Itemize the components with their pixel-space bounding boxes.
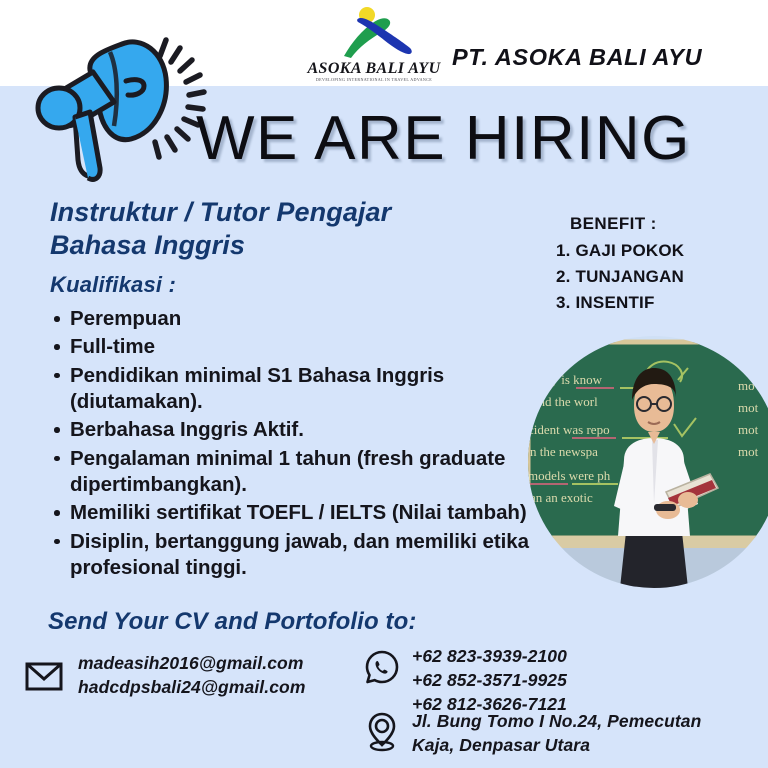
svg-text:cident was repo: cident was repo bbox=[528, 422, 610, 437]
phone-number[interactable]: +62 823-3939-2100 bbox=[412, 645, 567, 669]
svg-text:und the worl: und the worl bbox=[532, 394, 598, 409]
job-title-line2: Bahasa Inggris bbox=[50, 229, 520, 262]
contact-phone-block[interactable]: +62 823-3939-2100 +62 852-3571-9925 +62 … bbox=[364, 645, 567, 716]
list-item: Pengalaman minimal 1 tahun (fresh gradua… bbox=[70, 446, 540, 499]
teacher-photo: story is know und the worl cident was re… bbox=[528, 336, 768, 588]
address-line-2: Kaja, Denpasar Utara bbox=[412, 734, 701, 758]
svg-text:an an exotic: an an exotic bbox=[530, 490, 593, 505]
benefit-item: 1. GAJI POKOK bbox=[556, 238, 766, 264]
email-address[interactable]: hadcdpsbali24@gmail.com bbox=[78, 676, 305, 700]
company-logo: ASOKA BALI AYU DEVELOPING INTERNATIONAL … bbox=[306, 4, 442, 86]
list-item: Disiplin, bertanggung jawab, dan memilik… bbox=[70, 529, 540, 582]
phone-number[interactable]: +62 852-3571-9925 bbox=[412, 669, 567, 693]
address-line-1: Jl. Bung Tomo I No.24, Pemecutan bbox=[412, 710, 701, 734]
svg-text:mot: mot bbox=[738, 400, 759, 415]
phone-list: +62 823-3939-2100 +62 852-3571-9925 +62 … bbox=[412, 645, 567, 716]
svg-text:story is know: story is know bbox=[532, 372, 603, 387]
list-item: Pendidikan minimal S1 Bahasa Inggris (di… bbox=[70, 363, 540, 416]
qualifications-list: Perempuan Full-time Pendidikan minimal S… bbox=[48, 306, 540, 583]
list-item: Memiliki sertifikat TOEFL / IELTS (Nilai… bbox=[70, 500, 540, 526]
envelope-icon bbox=[24, 659, 64, 693]
job-title: Instruktur / Tutor Pengajar Bahasa Inggr… bbox=[50, 196, 520, 262]
svg-text:mot: mot bbox=[738, 422, 759, 437]
svg-text:mo: mo bbox=[738, 378, 755, 393]
hiring-poster: ASOKA BALI AYU DEVELOPING INTERNATIONAL … bbox=[0, 0, 768, 768]
map-pin-icon bbox=[364, 711, 400, 753]
benefit-item: 3. INSENTIF bbox=[556, 290, 766, 316]
email-address[interactable]: madeasih2016@gmail.com bbox=[78, 652, 305, 676]
qualifications-heading: Kualifikasi : bbox=[50, 272, 176, 298]
email-list: madeasih2016@gmail.com hadcdpsbali24@gma… bbox=[78, 652, 305, 700]
asoka-figure-logo-icon bbox=[334, 6, 414, 61]
logo-tagline: DEVELOPING INTERNATIONAL IN TRAVEL ADVAN… bbox=[306, 77, 442, 82]
job-title-line1: Instruktur / Tutor Pengajar bbox=[50, 196, 520, 229]
page-title: WE ARE HIRING bbox=[196, 103, 691, 174]
whatsapp-phone-icon bbox=[364, 649, 400, 685]
benefit-title: BENEFIT : bbox=[570, 214, 766, 234]
svg-text:mot: mot bbox=[738, 444, 759, 459]
list-item: Perempuan bbox=[70, 306, 540, 332]
svg-text:models were ph: models were ph bbox=[528, 468, 611, 483]
list-item: Berbahasa Inggris Aktif. bbox=[70, 417, 540, 443]
list-item: Full-time bbox=[70, 334, 540, 360]
address-lines: Jl. Bung Tomo I No.24, Pemecutan Kaja, D… bbox=[412, 710, 701, 758]
cta-text: Send Your CV and Portofolio to: bbox=[48, 608, 416, 636]
contact-email-block[interactable]: madeasih2016@gmail.com hadcdpsbali24@gma… bbox=[24, 652, 305, 700]
svg-text:n the newspa: n the newspa bbox=[530, 444, 598, 459]
contact-address-block[interactable]: Jl. Bung Tomo I No.24, Pemecutan Kaja, D… bbox=[364, 710, 701, 758]
teacher-photo-illustration: story is know und the worl cident was re… bbox=[528, 336, 768, 588]
logo-wordmark: ASOKA BALI AYU bbox=[306, 60, 442, 78]
benefit-item: 2. TUNJANGAN bbox=[556, 264, 766, 290]
benefit-block: BENEFIT : 1. GAJI POKOK 2. TUNJANGAN 3. … bbox=[556, 214, 766, 315]
company-name: PT. ASOKA BALI AYU bbox=[452, 44, 702, 71]
